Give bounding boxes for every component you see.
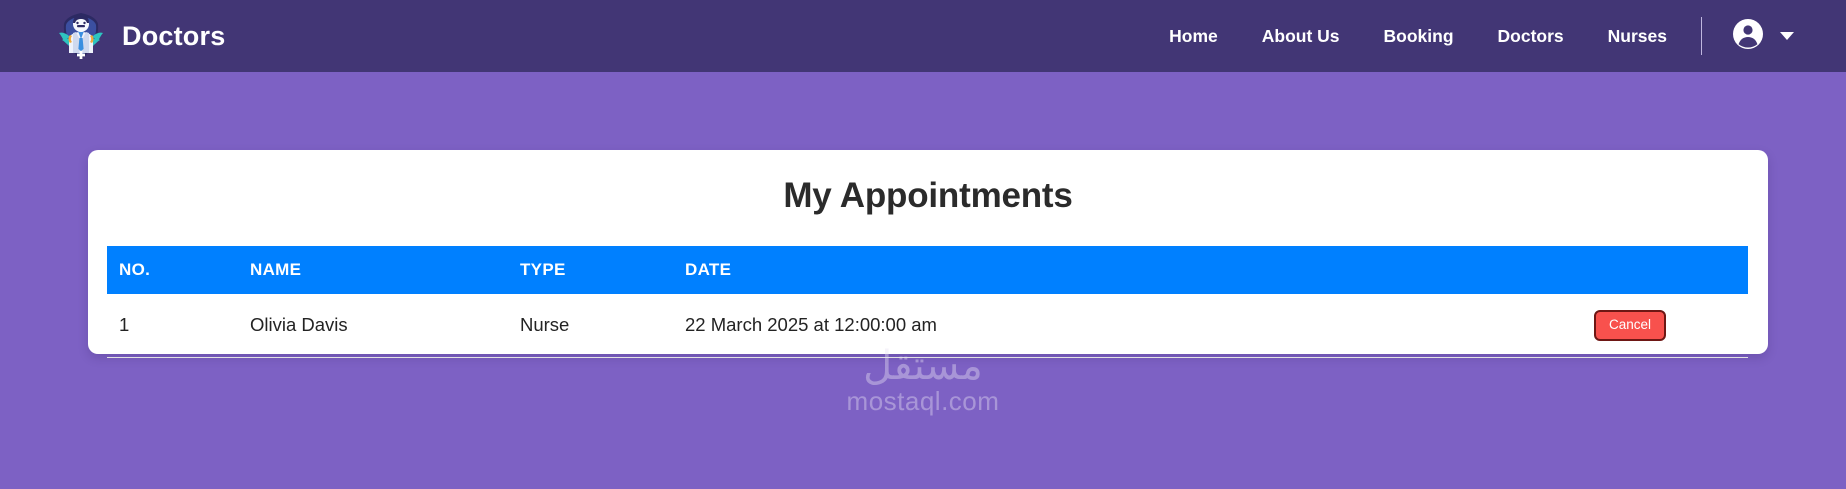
top-navbar: Doctors Home About Us Booking Doctors Nu… bbox=[0, 0, 1846, 72]
column-header-no: NO. bbox=[107, 246, 238, 294]
nav-item-about-us[interactable]: About Us bbox=[1262, 26, 1340, 47]
user-circle-icon[interactable] bbox=[1732, 18, 1764, 55]
user-menu-button[interactable] bbox=[1732, 18, 1794, 55]
primary-nav: Home About Us Booking Doctors Nurses bbox=[1169, 26, 1667, 47]
column-header-date: DATE bbox=[673, 246, 1293, 294]
table-header-row: NO. NAME TYPE DATE bbox=[107, 246, 1748, 294]
appointments-table: NO. NAME TYPE DATE 1 Olivia Davis Nurse … bbox=[107, 246, 1748, 358]
brand-title: Doctors bbox=[122, 21, 225, 52]
chevron-down-icon[interactable] bbox=[1780, 32, 1794, 40]
brand-link[interactable]: Doctors bbox=[56, 11, 225, 61]
column-header-type: TYPE bbox=[508, 246, 673, 294]
column-header-name: NAME bbox=[238, 246, 508, 294]
watermark-latin: mostaql.com bbox=[0, 386, 1846, 417]
page-body: My Appointments NO. NAME TYPE DATE 1 Oli… bbox=[0, 72, 1846, 489]
cancel-appointment-button[interactable]: Cancel bbox=[1594, 310, 1666, 341]
navbar-divider bbox=[1701, 17, 1702, 55]
watermark-arabic: مستقل bbox=[0, 344, 1846, 388]
nav-item-home[interactable]: Home bbox=[1169, 26, 1218, 47]
nav-item-booking[interactable]: Booking bbox=[1384, 26, 1454, 47]
column-header-actions bbox=[1293, 246, 1748, 294]
doctor-emblem-logo-icon bbox=[56, 11, 106, 61]
appointments-card: My Appointments NO. NAME TYPE DATE 1 Oli… bbox=[88, 150, 1768, 354]
watermark: مستقل mostaql.com bbox=[0, 344, 1846, 417]
nav-item-nurses[interactable]: Nurses bbox=[1608, 26, 1667, 47]
table-header: NO. NAME TYPE DATE bbox=[107, 246, 1748, 294]
page-title: My Appointments bbox=[88, 150, 1768, 216]
nav-item-doctors[interactable]: Doctors bbox=[1498, 26, 1564, 47]
